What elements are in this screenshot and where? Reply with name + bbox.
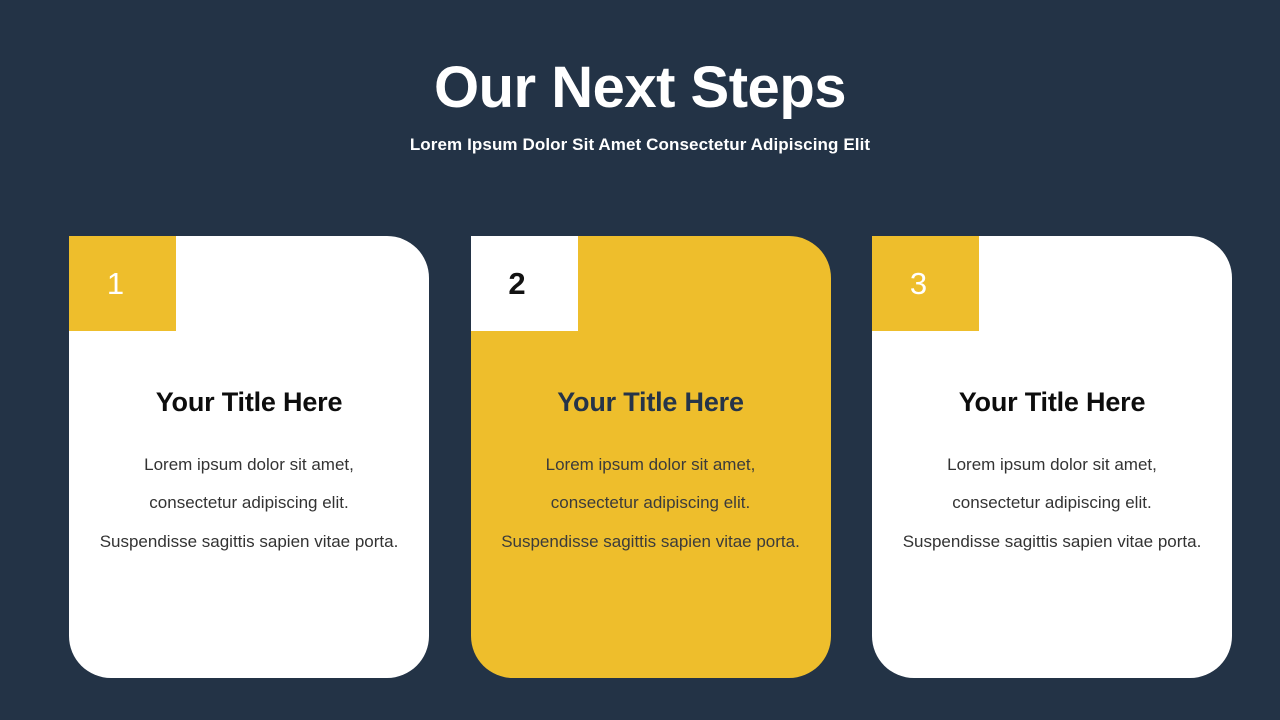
step-card-body-3: Your Title Here Lorem ipsum dolor sit am… — [872, 331, 1232, 561]
step-title-3: Your Title Here — [896, 331, 1208, 418]
step-card-1[interactable]: 1 Your Title Here Lorem ipsum dolor sit … — [69, 236, 429, 678]
step-card-3[interactable]: 3 Your Title Here Lorem ipsum dolor sit … — [872, 236, 1232, 678]
step-card-2[interactable]: 2 Your Title Here Lorem ipsum dolor sit … — [471, 236, 831, 678]
step-description-3: Lorem ipsum dolor sit amet, consectetur … — [902, 418, 1202, 562]
step-description-1: Lorem ipsum dolor sit amet, consectetur … — [99, 418, 399, 562]
step-number-badge-2: 2 — [471, 236, 578, 331]
page-title: Our Next Steps — [0, 0, 1280, 119]
step-title-1: Your Title Here — [93, 331, 405, 418]
steps-card-row: 1 Your Title Here Lorem ipsum dolor sit … — [69, 236, 1232, 678]
step-description-2: Lorem ipsum dolor sit amet, consectetur … — [501, 418, 801, 562]
page-subtitle: Lorem Ipsum Dolor Sit Amet Consectetur A… — [0, 119, 1280, 155]
step-card-body-2: Your Title Here Lorem ipsum dolor sit am… — [471, 331, 831, 561]
step-number-badge-3: 3 — [872, 236, 979, 331]
step-number-badge-1: 1 — [69, 236, 176, 331]
slide-header: Our Next Steps Lorem Ipsum Dolor Sit Ame… — [0, 0, 1280, 155]
slide: Our Next Steps Lorem Ipsum Dolor Sit Ame… — [0, 0, 1280, 720]
step-card-body-1: Your Title Here Lorem ipsum dolor sit am… — [69, 331, 429, 561]
step-title-2: Your Title Here — [495, 331, 807, 418]
